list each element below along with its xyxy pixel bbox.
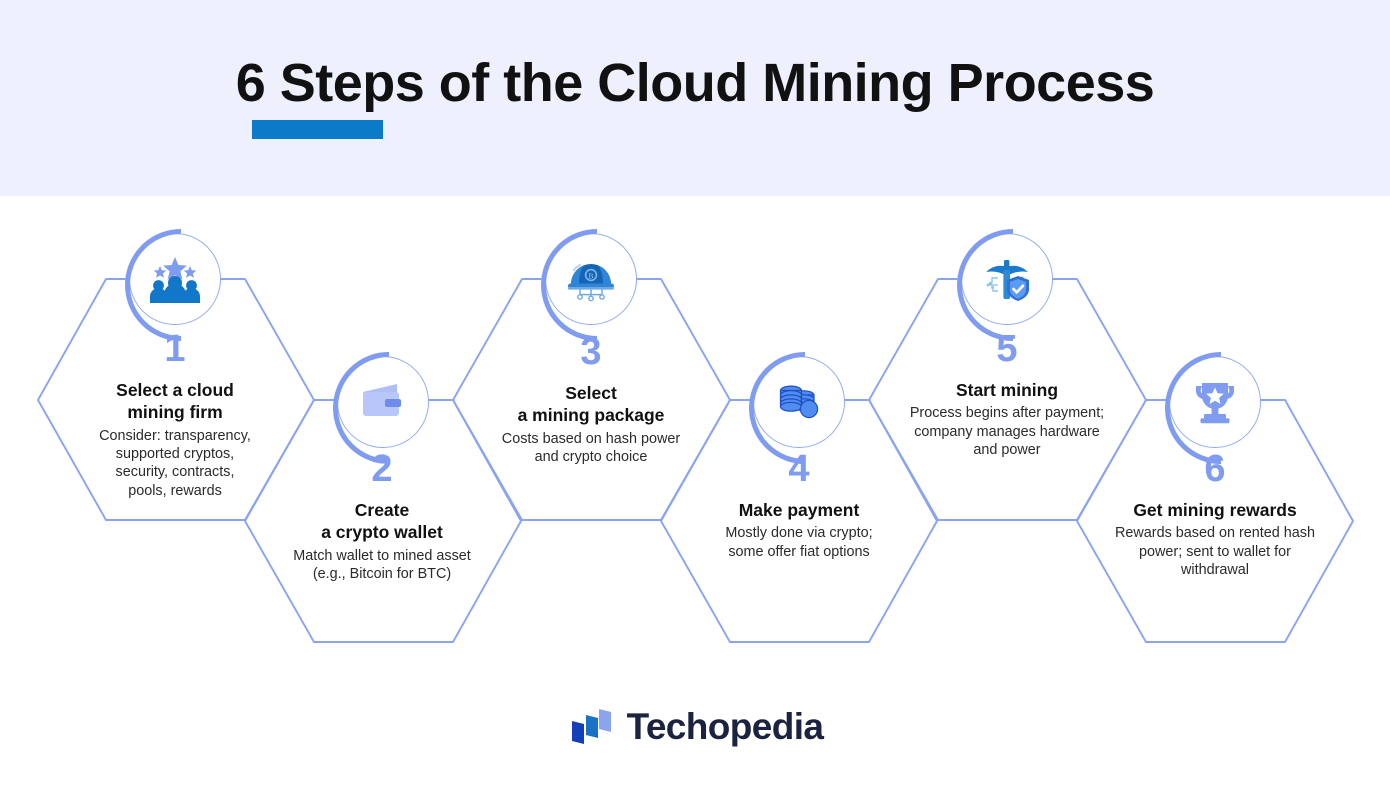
step-1-heading: Select a cloud mining firm: [45, 379, 305, 424]
step-5-heading: Start mining: [877, 379, 1137, 401]
step-5-number: 5: [877, 330, 1137, 368]
step-6-description: Rewards based on rented hash power; sent…: [1085, 524, 1345, 579]
techopedia-wordmark: Techopedia: [627, 706, 824, 748]
step-4-icon-circle: [753, 356, 845, 448]
people-stars-icon: [148, 252, 202, 306]
step-5-text: 5 Start mining Process begins after paym…: [877, 330, 1137, 459]
techopedia-logo-icon: [567, 704, 614, 751]
step-6-icon-circle: [1169, 356, 1261, 448]
step-3-heading: Select a mining package: [461, 382, 721, 427]
footer-logo: Techopedia: [0, 695, 1390, 759]
step-5-icon-circle: [961, 233, 1053, 325]
wallet-icon: [357, 376, 409, 428]
step-4-description: Mostly done via crypto; some offer fiat …: [669, 524, 929, 561]
step-6-text: 6 Get mining rewards Rewards based on re…: [1085, 450, 1345, 579]
trophy-icon: [1189, 376, 1241, 428]
step-3-text: 3 Select a mining package Costs based on…: [461, 333, 721, 466]
step-1-icon-circle: [129, 233, 221, 325]
step-3-icon-circle: B: [545, 233, 637, 325]
step-2-icon-circle: [337, 356, 429, 448]
step-6-heading: Get mining rewards: [1085, 499, 1345, 521]
step-4-heading: Make payment: [669, 499, 929, 521]
step-3-number: 3: [461, 333, 721, 371]
process-diagram: 1 Select a cloud mining firm Consider: t…: [0, 0, 1390, 793]
step-6-number: 6: [1085, 450, 1345, 488]
step-2-description: Match wallet to mined asset (e.g., Bitco…: [252, 547, 512, 584]
step-1-number: 1: [45, 330, 305, 368]
coin-stack-icon: [773, 376, 825, 428]
svg-text:B: B: [589, 271, 594, 280]
step-2-heading: Create a crypto wallet: [252, 499, 512, 544]
step-4-text: 4 Make payment Mostly done via crypto; s…: [669, 450, 929, 561]
mining-helmet-icon: B: [564, 252, 618, 306]
step-2-text: 2 Create a crypto wallet Match wallet to…: [252, 450, 512, 583]
pickaxe-shield-icon: [980, 252, 1034, 306]
